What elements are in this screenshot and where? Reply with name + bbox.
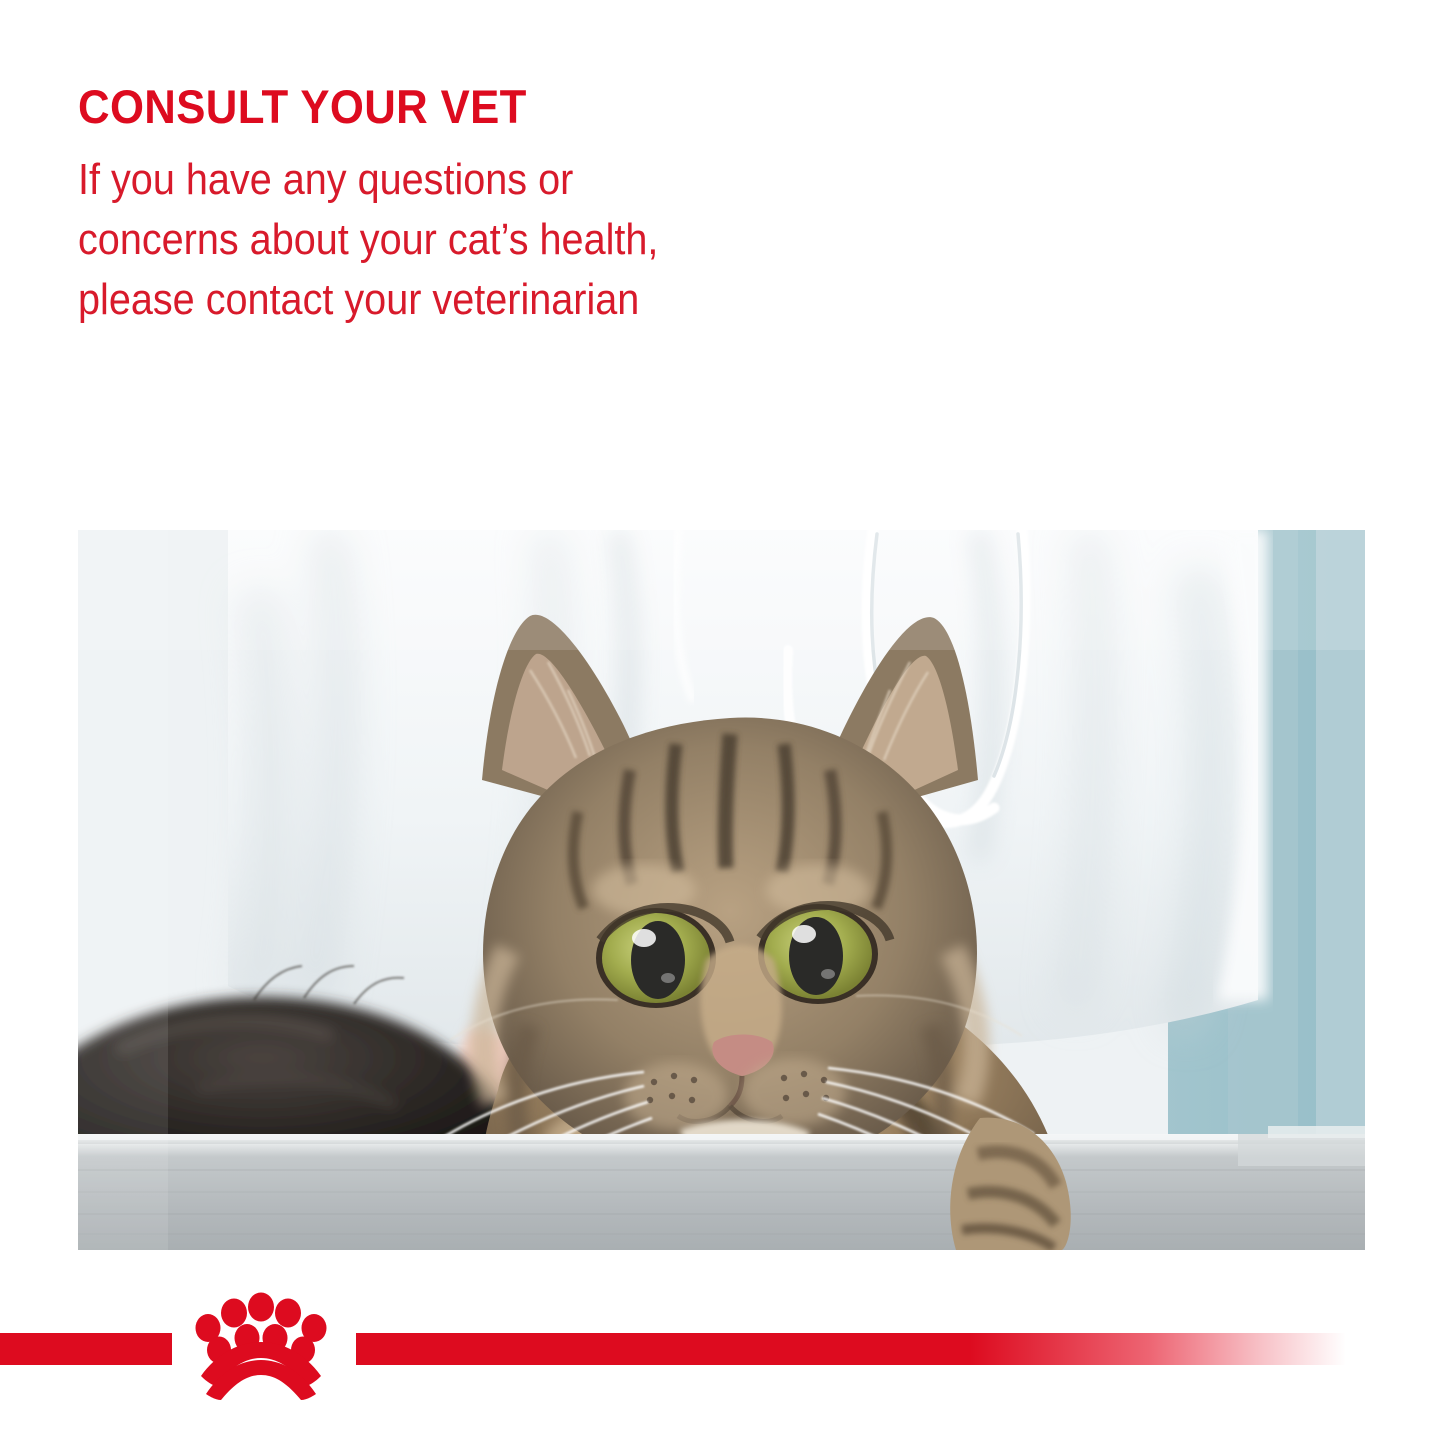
royal-canin-crown-logo xyxy=(186,1290,336,1402)
crown-icon xyxy=(186,1290,336,1402)
footer-bar-right xyxy=(356,1333,1346,1365)
page-title: CONSULT YOUR VET xyxy=(78,78,971,136)
body-copy-line-1: If you have any questions or xyxy=(78,150,942,210)
footer-bar-left xyxy=(0,1333,172,1365)
vet-cat-photo xyxy=(78,530,1365,1250)
copy-block: CONSULT YOUR VET If you have any questio… xyxy=(78,78,1038,330)
body-copy-line-3: please contact your veterinarian xyxy=(78,270,942,330)
body-copy-line-2: concerns about your cat’s health, xyxy=(78,210,942,270)
body-copy: If you have any questions or concerns ab… xyxy=(78,150,942,330)
poster-page: CONSULT YOUR VET If you have any questio… xyxy=(0,0,1445,1445)
vet-cat-illustration xyxy=(78,530,1365,1250)
footer xyxy=(0,1290,1445,1410)
